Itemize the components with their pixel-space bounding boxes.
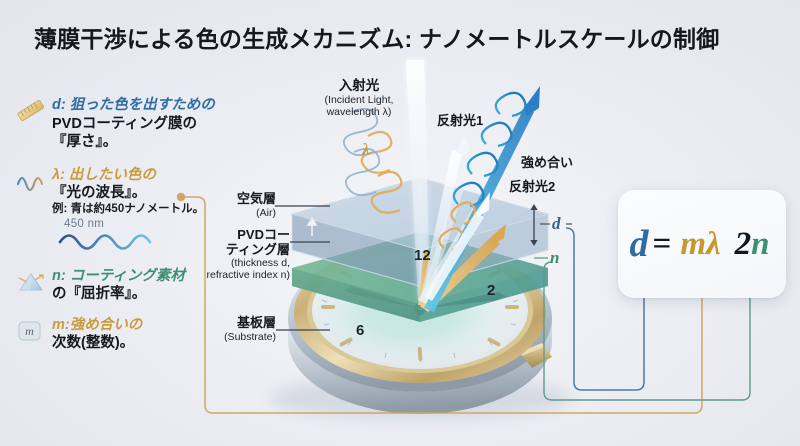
coating-layer-label: PVDコー ティング層 (thickness d, refractive ind… bbox=[160, 228, 290, 281]
formula-numerator: mλ bbox=[675, 226, 725, 265]
reflect1-label: 反射光1 bbox=[437, 110, 483, 129]
lambda-mark-label: λ bbox=[362, 140, 370, 160]
prism-icon bbox=[16, 269, 46, 295]
coating-layer-en2: refractive index n) bbox=[160, 269, 290, 281]
page-title: 薄膜干渉による色の生成メカニズム: ナノメートルスケールの制御 bbox=[34, 20, 719, 54]
thickness-d-callout: d bbox=[552, 214, 561, 234]
legend-d-line3: 『厚さ』。 bbox=[52, 133, 236, 152]
watch-numeral-2: 2 bbox=[487, 282, 495, 299]
legend-lambda-line1: λ: 出したい色の bbox=[52, 167, 156, 183]
coating-layer-en1: (thickness d, bbox=[160, 257, 290, 269]
incident-light-en1: (Incident Light, bbox=[296, 94, 422, 107]
formula-equals: = bbox=[653, 226, 672, 263]
formula-denominator-coefficient: 2 bbox=[735, 226, 752, 262]
dial-minute-ticks bbox=[322, 256, 518, 362]
reflected-ray-2 bbox=[420, 236, 500, 312]
legend-d-line1: d: 狙った色を出すための bbox=[52, 97, 215, 113]
refractive-n-callout: n bbox=[550, 248, 559, 268]
substrate-layer-label: 基板層 (Substrate) bbox=[190, 316, 276, 343]
constructive-label: 強め合い bbox=[521, 152, 573, 171]
formula-lhs: d bbox=[630, 222, 649, 266]
incident-light-en2: wavelength λ) bbox=[296, 106, 422, 119]
incident-light-jp: 入射光 bbox=[296, 78, 422, 94]
incident-light-label: 入射光 (Incident Light, wavelength λ) bbox=[296, 78, 422, 119]
infographic-canvas: 薄膜干渉による色の生成メカニズム: ナノメートルスケールの制御 d: 狙っ bbox=[0, 0, 800, 446]
ruler-icon bbox=[16, 98, 46, 124]
legend-n-line2: の『屈折率』。 bbox=[52, 285, 236, 304]
m-badge-icon: m bbox=[16, 318, 46, 344]
watch-hands bbox=[344, 286, 506, 315]
legend-m-line1: m:強め合いの bbox=[52, 317, 142, 333]
reflect2-label: 反射光2 bbox=[509, 176, 555, 195]
legend-d-line2: PVDコーティング膜の bbox=[52, 115, 236, 134]
coating-layer-jp2: ティング層 bbox=[160, 243, 290, 258]
constructive-beam bbox=[424, 108, 534, 312]
formula-denominator: 2n bbox=[730, 223, 775, 262]
watch-numeral-6: 6 bbox=[356, 322, 364, 339]
legend-d-text: d: 狙った色を出すための PVDコーティング膜の 『厚さ』。 bbox=[52, 96, 236, 152]
air-layer-label: 空気層 (Air) bbox=[190, 192, 276, 219]
wave-icon bbox=[16, 168, 46, 194]
reflect1-arrow bbox=[424, 192, 490, 301]
thickness-arrow bbox=[530, 204, 537, 246]
watch-illustration bbox=[288, 243, 552, 414]
formula-denominator-symbol: n bbox=[751, 226, 769, 262]
formula-expression: d = mλ 2n bbox=[618, 190, 786, 298]
legend-item-d: d: 狙った色を出すための PVDコーティング膜の 『厚さ』。 bbox=[16, 96, 236, 152]
svg-text:m: m bbox=[25, 324, 34, 338]
wavelength-wave-graphic bbox=[56, 229, 176, 255]
air-arrow-icon bbox=[308, 219, 316, 236]
pvd-coating-layer bbox=[292, 232, 548, 322]
watch-shadow bbox=[270, 376, 570, 420]
watch-crown bbox=[520, 343, 552, 368]
substrate-layer-en: (Substrate) bbox=[190, 331, 276, 343]
formula-fraction: mλ 2n bbox=[675, 228, 774, 261]
substrate-layer-jp: 基板層 bbox=[190, 316, 276, 331]
coating-layer-jp1: PVDコー bbox=[160, 228, 290, 243]
watch-numeral-12: 12 bbox=[414, 247, 431, 264]
air-layer-jp: 空気層 bbox=[190, 192, 276, 207]
air-layer-en: (Air) bbox=[190, 207, 276, 219]
formula-card: d = mλ 2n bbox=[618, 190, 786, 298]
